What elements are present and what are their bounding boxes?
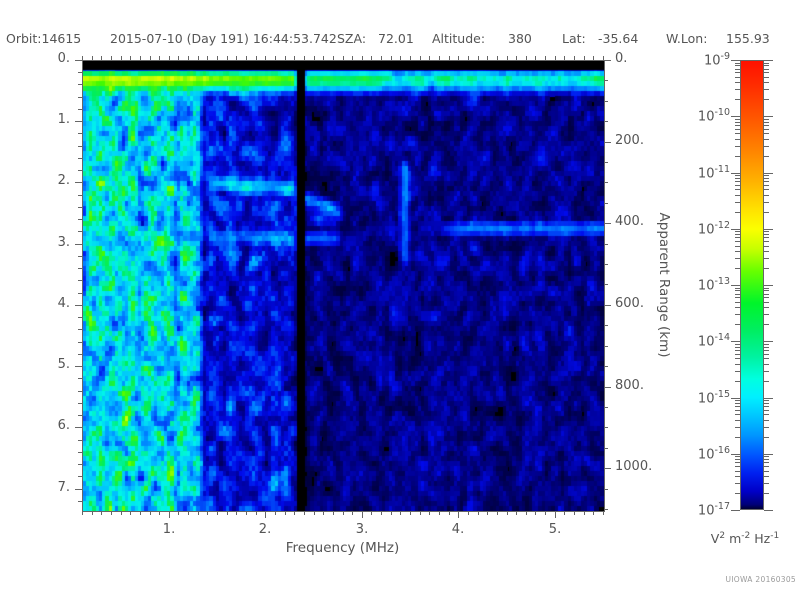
x-tick-top <box>478 56 479 60</box>
x-tick-top <box>593 56 594 60</box>
colorbar-tick-mantissa: 10 <box>698 391 715 406</box>
colorbar-tick-label: 10-9 <box>678 51 730 68</box>
colorbar-tick-minor-left <box>735 456 740 457</box>
ionogram-figure: Orbit:14615 2015-07-10 (Day 191) 16:44:5… <box>0 0 800 600</box>
x-tick-top <box>429 56 430 60</box>
colorbar-tick-minor-left <box>735 181 740 182</box>
y-tick-minor <box>78 501 82 502</box>
colorbar-tick-minor-right <box>764 231 769 232</box>
colorbar-tick-minor-right <box>764 403 769 404</box>
colorbar-tick-major-left <box>731 116 740 117</box>
x-tick-top <box>159 56 160 60</box>
colorbar-tick-minor-right <box>764 234 769 235</box>
x-tick-top <box>246 56 247 60</box>
colorbar-tick-minor-left <box>735 69 740 70</box>
y-tick-minor <box>78 268 82 269</box>
colorbar-tick-minor-right <box>764 427 769 428</box>
colorbar-tick-minor-left <box>735 146 740 147</box>
colorbar-tick-minor-left <box>735 344 740 345</box>
colorbar-tick-minor-left <box>735 82 740 83</box>
colorbar-tick-minor-left <box>735 195 740 196</box>
y-tick-major <box>75 182 82 183</box>
colorbar-tick-minor-left <box>735 297 740 298</box>
colorbar-tick-label: 10-14 <box>678 332 730 349</box>
colorbar-tick-minor-left <box>735 427 740 428</box>
sza-label: SZA: <box>337 31 366 46</box>
colorbar-tick-minor-left <box>735 288 740 289</box>
x-tick-top <box>111 56 112 60</box>
x-tick-minor <box>246 511 247 515</box>
colorbar-tick-minor-right <box>764 122 769 123</box>
x-tick-minor <box>545 511 546 515</box>
y2-tick-major <box>604 468 611 469</box>
x-tick-minor <box>256 511 257 515</box>
x-tick-minor <box>574 511 575 515</box>
y-tick-minor <box>78 403 82 404</box>
colorbar-tick-major-right <box>764 454 773 455</box>
x-tick-top <box>169 56 170 60</box>
x-tick-minor <box>150 511 151 515</box>
y-tick-minor <box>78 170 82 171</box>
colorbar-tick-label: 10-10 <box>678 107 730 124</box>
x-tick-minor <box>526 511 527 515</box>
x-tick-top <box>507 56 508 60</box>
y-tick-label: 6. <box>30 418 70 433</box>
x-tick-minor <box>352 511 353 515</box>
x-tick-top <box>371 56 372 60</box>
colorbar-tick-minor-left <box>735 410 740 411</box>
x-tick-label: 4. <box>446 522 470 537</box>
colorbar-tick-mantissa: 10 <box>698 222 715 237</box>
colorbar-tick-minor-right <box>764 364 769 365</box>
colorbar-tick-major-right <box>764 285 773 286</box>
y2-tick-minor <box>604 427 608 428</box>
x-tick-label: 5. <box>543 522 567 537</box>
colorbar-tick-minor-right <box>764 69 769 70</box>
colorbar-tick-minor-left <box>735 358 740 359</box>
colorbar-tick-minor-right <box>764 189 769 190</box>
colorbar-tick-minor-left <box>735 268 740 269</box>
y-tick-minor <box>78 440 82 441</box>
colorbar-tick-exponent: -12 <box>714 220 730 231</box>
x-tick-top <box>236 56 237 60</box>
colorbar-tick-exponent: -16 <box>714 445 730 456</box>
colorbar-tick-minor-right <box>764 354 769 355</box>
x-tick-major <box>458 511 459 518</box>
colorbar-tick-minor-right <box>764 290 769 291</box>
colorbar-tick-minor-left <box>735 466 740 467</box>
y-tick-major <box>75 427 82 428</box>
y-tick-minor <box>78 317 82 318</box>
x-tick-minor <box>507 511 508 515</box>
colorbar-tick-major-right <box>764 341 773 342</box>
colorbar-tick-minor-right <box>764 344 769 345</box>
y-tick-minor <box>78 415 82 416</box>
colorbar-tick-minor-right <box>764 459 769 460</box>
colorbar-tick-minor-right <box>764 414 769 415</box>
x-tick-minor <box>188 511 189 515</box>
x-tick-top <box>265 56 266 60</box>
y2-tick-minor <box>604 284 608 285</box>
colorbar-tick-minor-left <box>735 420 740 421</box>
colorbar-tick-minor-right <box>764 476 769 477</box>
x-tick-top <box>188 56 189 60</box>
colorbar-tick-minor-left <box>735 403 740 404</box>
colorbar-tick-minor-right <box>764 268 769 269</box>
x-tick-top <box>449 56 450 60</box>
units-m: m <box>729 531 741 546</box>
y-tick-major <box>75 305 82 306</box>
colorbar-tick-minor-right <box>764 381 769 382</box>
colorbar-tick-minor-right <box>764 294 769 295</box>
sza-value: 72.01 <box>378 31 414 46</box>
x-tick-top <box>101 56 102 60</box>
x-tick-label: 3. <box>350 522 374 537</box>
colorbar-tick-minor-left <box>735 65 740 66</box>
colorbar-tick-minor-right <box>764 456 769 457</box>
colorbar-tick-minor-right <box>764 493 769 494</box>
colorbar-tick-minor-left <box>735 119 740 120</box>
colorbar-tick-minor-right <box>764 99 769 100</box>
y2-tick-major <box>604 387 611 388</box>
y-tick-minor <box>78 231 82 232</box>
x-tick-minor <box>584 511 585 515</box>
colorbar-tick-minor-left <box>735 246 740 247</box>
x-tick-minor <box>400 511 401 515</box>
colorbar-tick-minor-left <box>735 483 740 484</box>
colorbar-tick-minor-left <box>735 175 740 176</box>
y2-tick-minor <box>604 121 608 122</box>
colorbar-tick-minor-left <box>735 414 740 415</box>
colorbar-tick-minor-left <box>735 212 740 213</box>
colorbar-tick-minor-right <box>764 178 769 179</box>
colorbar-tick-minor-left <box>735 125 740 126</box>
west-longitude-value: 155.93 <box>726 31 770 46</box>
y-tick-minor <box>78 452 82 453</box>
units-v-exponent: 2 <box>719 531 725 541</box>
colorbar-tick-mantissa: 10 <box>704 53 721 68</box>
x-tick-minor <box>391 511 392 515</box>
x-tick-major <box>555 511 556 518</box>
x-tick-minor <box>487 511 488 515</box>
colorbar-tick-mantissa: 10 <box>698 503 715 518</box>
colorbar-tick-label: 10-17 <box>678 501 730 518</box>
colorbar-tick-minor-right <box>764 175 769 176</box>
x-tick-minor <box>159 511 160 515</box>
y2-axis-title: Apparent Range (km) <box>656 200 672 370</box>
colorbar-tick-major-right <box>764 173 773 174</box>
latitude-value: -35.64 <box>598 31 638 46</box>
colorbar-tick-exponent: -13 <box>714 276 730 287</box>
colorbar-tick-label: 10-11 <box>678 164 730 181</box>
y2-tick-label: 1000. <box>615 459 652 474</box>
colorbar-tick-minor-left <box>735 350 740 351</box>
colorbar-tick-minor-right <box>764 202 769 203</box>
y-tick-minor <box>78 464 82 465</box>
colorbar-tick-minor-right <box>764 410 769 411</box>
y-tick-label: 0. <box>30 51 70 66</box>
colorbar-tick-major-right <box>764 60 773 61</box>
y-tick-label: 4. <box>30 296 70 311</box>
x-tick-minor <box>294 511 295 515</box>
x-tick-top <box>497 56 498 60</box>
y2-tick-minor <box>604 244 608 245</box>
colorbar-tick-minor-right <box>764 302 769 303</box>
colorbar-tick-major-left <box>731 60 740 61</box>
x-tick-top <box>198 56 199 60</box>
x-tick-minor <box>275 511 276 515</box>
colorbar-tick-minor-right <box>764 462 769 463</box>
colorbar-tick-minor-right <box>764 314 769 315</box>
x-tick-top <box>410 56 411 60</box>
y2-tick-minor <box>604 366 608 367</box>
y2-tick-minor <box>604 346 608 347</box>
y2-tick-minor <box>604 407 608 408</box>
colorbar-tick-minor-right <box>764 82 769 83</box>
x-tick-major <box>169 511 170 518</box>
x-tick-major <box>362 511 363 518</box>
y-tick-minor <box>78 97 82 98</box>
x-tick-top <box>178 56 179 60</box>
colorbar-tick-minor-left <box>735 77 740 78</box>
colorbar-tick-minor-right <box>764 65 769 66</box>
y-tick-label: 3. <box>30 235 70 250</box>
colorbar-tick-minor-right <box>764 119 769 120</box>
colorbar-tick-exponent: -9 <box>721 51 730 62</box>
colorbar-tick-minor-right <box>764 133 769 134</box>
x-tick-top <box>516 56 517 60</box>
x-tick-top <box>217 56 218 60</box>
x-tick-top <box>121 56 122 60</box>
units-m-exponent: -2 <box>741 531 750 541</box>
x-tick-minor <box>410 511 411 515</box>
colorbar-tick-major-left <box>731 510 740 511</box>
x-tick-top <box>256 56 257 60</box>
colorbar-tick-mantissa: 10 <box>698 109 715 124</box>
colorbar-tick-minor-left <box>735 307 740 308</box>
x-tick-top <box>439 56 440 60</box>
x-tick-top <box>420 56 421 60</box>
x-tick-top <box>400 56 401 60</box>
colorbar-tick-minor-left <box>735 314 740 315</box>
x-tick-minor <box>207 511 208 515</box>
y-tick-minor <box>78 133 82 134</box>
colorbar-tick-minor-right <box>764 181 769 182</box>
colorbar-tick-minor-right <box>764 471 769 472</box>
x-tick-top <box>343 56 344 60</box>
y2-tick-major <box>604 305 611 306</box>
colorbar-tick-minor-left <box>735 462 740 463</box>
colorbar-tick-exponent: -17 <box>714 501 730 512</box>
units-hz: Hz <box>754 531 770 546</box>
x-tick-top <box>314 56 315 60</box>
colorbar-tick-minor-right <box>764 350 769 351</box>
colorbar-tick-minor-right <box>764 406 769 407</box>
colorbar-tick-minor-left <box>735 290 740 291</box>
colorbar-tick-minor-right <box>764 237 769 238</box>
colorbar-tick-minor-right <box>764 466 769 467</box>
colorbar-tick-minor-right <box>764 420 769 421</box>
x-tick-top <box>333 56 334 60</box>
y-tick-major <box>75 366 82 367</box>
x-tick-minor <box>236 511 237 515</box>
y-tick-minor <box>78 109 82 110</box>
x-tick-minor <box>516 511 517 515</box>
colorbar-tick-minor-left <box>735 476 740 477</box>
y2-tick-label: 800. <box>615 378 644 393</box>
y-tick-minor <box>78 280 82 281</box>
colorbar-tick-minor-right <box>764 288 769 289</box>
colorbar-tick-major-left <box>731 173 740 174</box>
y2-tick-minor <box>604 101 608 102</box>
y-tick-minor <box>78 256 82 257</box>
colorbar-tick-exponent: -15 <box>714 389 730 400</box>
colorbar-tick-mantissa: 10 <box>698 334 715 349</box>
y2-tick-label: 400. <box>615 214 644 229</box>
x-tick-top <box>130 56 131 60</box>
colorbar-tick-minor-left <box>735 241 740 242</box>
x-axis-title: Frequency (MHz) <box>82 540 603 556</box>
x-tick-top <box>391 56 392 60</box>
x-tick-minor <box>420 511 421 515</box>
x-tick-top <box>323 56 324 60</box>
x-tick-minor <box>343 511 344 515</box>
y-tick-label: 7. <box>30 480 70 495</box>
altitude-value: 380 <box>508 31 532 46</box>
x-tick-top <box>468 56 469 60</box>
x-tick-label: 2. <box>253 522 277 537</box>
colorbar-tick-minor-left <box>735 354 740 355</box>
y-tick-major <box>75 121 82 122</box>
colorbar-tick-minor-right <box>764 437 769 438</box>
y-tick-minor <box>78 342 82 343</box>
spectrogram-plot-area <box>82 60 605 512</box>
y-tick-minor <box>78 84 82 85</box>
y-tick-minor <box>78 329 82 330</box>
colorbar-tick-minor-left <box>735 347 740 348</box>
colorbar-tick-mantissa: 10 <box>698 166 715 181</box>
x-tick-minor <box>92 511 93 515</box>
colorbar-tick-minor-right <box>764 185 769 186</box>
x-tick-top <box>564 56 565 60</box>
x-tick-top <box>150 56 151 60</box>
x-tick-minor <box>371 511 372 515</box>
x-tick-minor <box>449 511 450 515</box>
x-tick-minor <box>333 511 334 515</box>
x-tick-top <box>82 56 83 60</box>
y2-tick-minor <box>604 80 608 81</box>
colorbar-tick-major-right <box>764 116 773 117</box>
colorbar-tick-minor-right <box>764 241 769 242</box>
colorbar-tick-major-left <box>731 398 740 399</box>
y2-tick-minor <box>604 203 608 204</box>
colorbar-tick-minor-right <box>764 307 769 308</box>
colorbar-tick-minor-left <box>735 99 740 100</box>
x-tick-top <box>362 56 363 60</box>
y-tick-minor <box>78 146 82 147</box>
y-tick-major <box>75 489 82 490</box>
y-tick-label: 5. <box>30 357 70 372</box>
altitude-label: Altitude: <box>432 31 485 46</box>
colorbar-gradient <box>740 60 764 510</box>
colorbar-tick-major-right <box>764 510 773 511</box>
x-tick-top <box>140 56 141 60</box>
x-tick-minor <box>178 511 179 515</box>
x-tick-minor <box>497 511 498 515</box>
x-tick-minor <box>535 511 536 515</box>
y-tick-label: 1. <box>30 112 70 127</box>
y2-tick-minor <box>604 264 608 265</box>
colorbar-tick-minor-right <box>764 358 769 359</box>
colorbar-tick-minor-right <box>764 324 769 325</box>
colorbar-tick-minor-left <box>735 371 740 372</box>
y2-tick-major <box>604 142 611 143</box>
colorbar-tick-minor-right <box>764 77 769 78</box>
x-tick-label: 1. <box>157 522 181 537</box>
y2-tick-label: 0. <box>615 51 627 66</box>
x-tick-top <box>352 56 353 60</box>
y-tick-major <box>75 60 82 61</box>
observation-datetime: 2015-07-10 (Day 191) 16:44:53.742 <box>110 31 337 46</box>
x-tick-top <box>285 56 286 60</box>
y-tick-minor <box>78 195 82 196</box>
colorbar-tick-minor-left <box>735 72 740 73</box>
colorbar-tick-mantissa: 10 <box>698 447 715 462</box>
colorbar-tick-minor-right <box>764 195 769 196</box>
y-tick-minor <box>78 354 82 355</box>
x-tick-minor <box>227 511 228 515</box>
x-tick-top <box>535 56 536 60</box>
colorbar-tick-minor-left <box>735 122 740 123</box>
colorbar-tick-minor-right <box>764 246 769 247</box>
colorbar-tick-exponent: -11 <box>714 164 730 175</box>
colorbar-tick-major-left <box>731 341 740 342</box>
colorbar-tick-minor-right <box>764 89 769 90</box>
x-tick-major <box>265 511 266 518</box>
colorbar-tick-major-left <box>731 454 740 455</box>
colorbar-tick-minor-right <box>764 400 769 401</box>
watermark: UIOWA 20160305 <box>700 575 796 584</box>
colorbar-tick-minor-right <box>764 125 769 126</box>
colorbar-tick-minor-left <box>735 324 740 325</box>
x-tick-top <box>603 56 604 60</box>
colorbar-tick-minor-left <box>735 202 740 203</box>
units-hz-exponent: -1 <box>770 531 779 541</box>
colorbar-tick-minor-left <box>735 133 740 134</box>
y-tick-minor <box>78 219 82 220</box>
colorbar-tick-minor-left <box>735 471 740 472</box>
latitude-label: Lat: <box>562 31 586 46</box>
x-tick-minor <box>285 511 286 515</box>
colorbar-tick-minor-left <box>735 89 740 90</box>
y-tick-major <box>75 244 82 245</box>
west-longitude-label: W.Lon: <box>666 31 707 46</box>
x-tick-top <box>526 56 527 60</box>
x-tick-minor <box>140 511 141 515</box>
colorbar-tick-minor-left <box>735 400 740 401</box>
colorbar-tick-minor-left <box>735 231 740 232</box>
y2-tick-minor <box>604 489 608 490</box>
colorbar-tick-minor-left <box>735 178 740 179</box>
colorbar-tick-minor-left <box>735 156 740 157</box>
x-tick-top <box>304 56 305 60</box>
colorbar-tick-minor-right <box>764 251 769 252</box>
y-tick-minor <box>78 158 82 159</box>
x-tick-minor <box>603 511 604 515</box>
y2-tick-minor <box>604 325 608 326</box>
y2-tick-label: 200. <box>615 133 644 148</box>
x-tick-top <box>584 56 585 60</box>
